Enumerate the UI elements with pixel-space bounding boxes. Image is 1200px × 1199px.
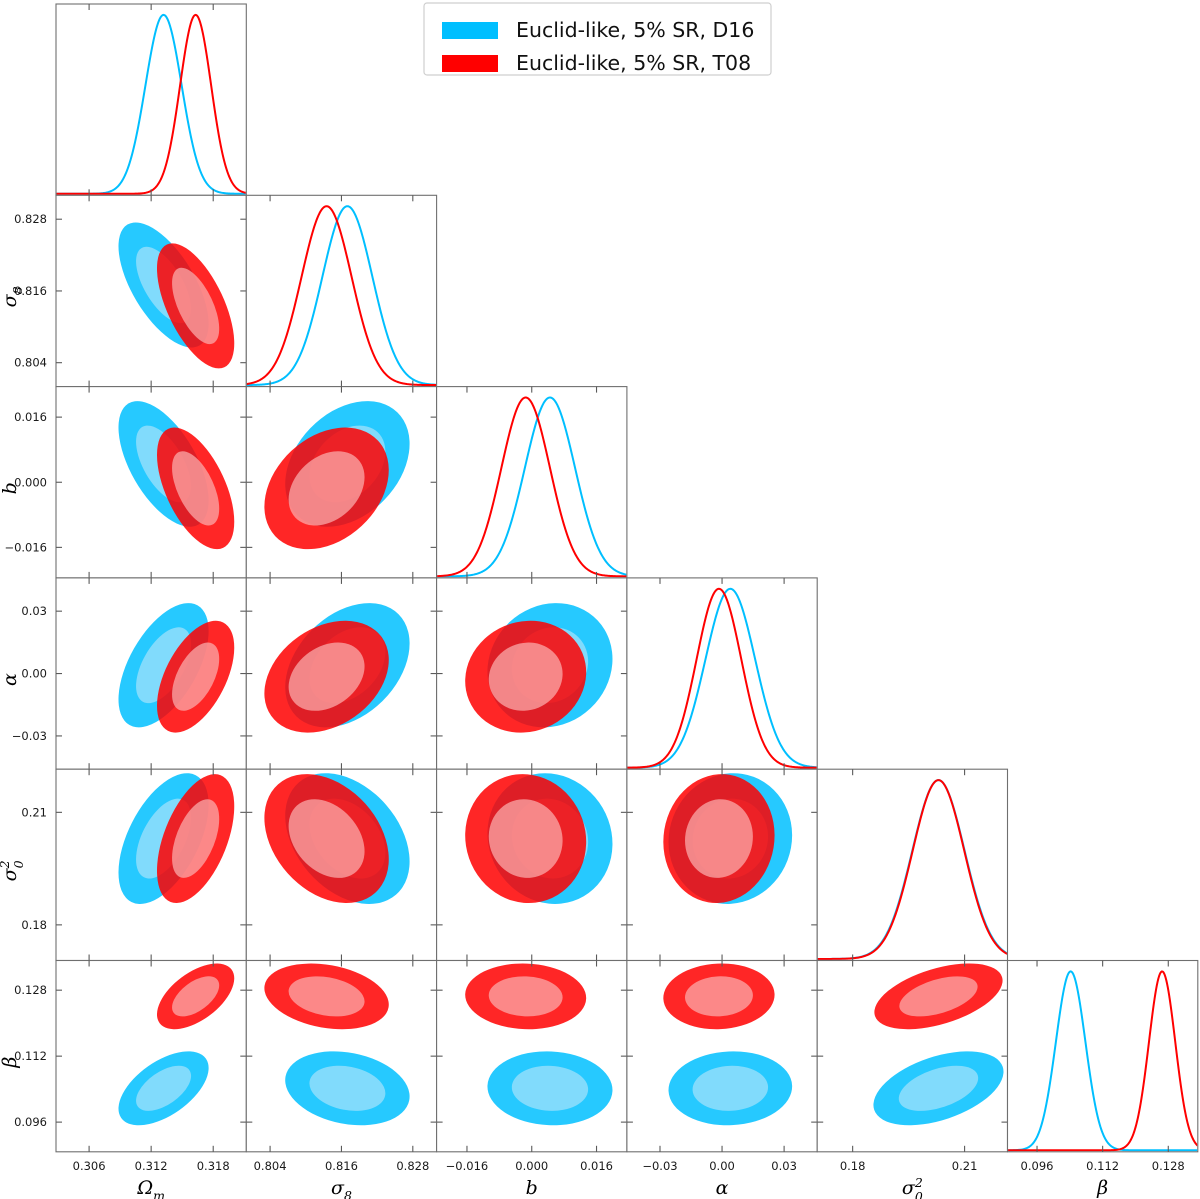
diagonal-panel-beta: 0.0960.1120.128 <box>1008 961 1198 1173</box>
corner-plot-figure: 0.8040.8160.828−0.0160.0000.016−0.030.00… <box>0 0 1200 1199</box>
x-tick-label: 0.016 <box>580 1159 613 1173</box>
x-tick-label: 0.03 <box>771 1159 797 1173</box>
x-tick-label: 0.000 <box>515 1159 548 1173</box>
x-axis-label-alpha: α <box>716 1177 729 1199</box>
contour-panel-b-vs-Om: −0.0160.0000.016 <box>4 387 250 578</box>
x-tick-label: 0.18 <box>840 1159 866 1173</box>
x-axis-label-Om-text: Ωm <box>136 1177 165 1199</box>
y-tick-label: 0.03 <box>21 604 47 618</box>
contour-panel-beta-vs-alpha: −0.030.000.03 <box>627 961 817 1173</box>
x-tick-label: 0.804 <box>254 1159 287 1173</box>
x-axis-label-sig0-text: σ20 <box>902 1175 923 1199</box>
y-axis-label-sig0: σ20 <box>0 860 26 881</box>
x-axis-label-alpha-text: α <box>716 1177 729 1199</box>
legend: Euclid-like, 5% SR, D16Euclid-like, 5% S… <box>424 3 771 75</box>
x-tick-label: 0.112 <box>1086 1159 1119 1173</box>
x-tick-label: 0.306 <box>73 1159 106 1173</box>
contour-panel-beta-vs-sig0: 0.180.21 <box>817 951 1013 1173</box>
x-axis-label-b: b <box>526 1177 538 1199</box>
x-tick-label: −0.03 <box>642 1159 677 1173</box>
y-axis-label-beta: β <box>0 1057 21 1069</box>
y-axis-label-alpha: α <box>0 673 21 686</box>
panel-frame <box>817 769 1007 960</box>
y-tick-label: 0.096 <box>14 1115 47 1129</box>
contour-panel-sig0-vs-alpha <box>627 755 817 960</box>
contour-panel-sig0-vs-b <box>437 750 637 960</box>
legend-swatch-t08 <box>442 55 498 72</box>
diagonal-panel-alpha <box>627 578 817 769</box>
x-axis-label-sig0: σ20 <box>902 1175 923 1199</box>
x-axis-label-b-text: b <box>526 1177 538 1199</box>
y-tick-label: −0.03 <box>12 729 47 743</box>
x-tick-label: 0.128 <box>1152 1159 1185 1173</box>
legend-label-0: Euclid-like, 5% SR, D16 <box>516 18 754 42</box>
x-tick-label: 0.312 <box>135 1159 168 1173</box>
y-tick-label: 0.016 <box>14 410 47 424</box>
y-axis-label-sig0-text: σ20 <box>0 860 26 881</box>
y-tick-label: 0.828 <box>14 212 47 226</box>
x-tick-label: 0.828 <box>396 1159 429 1173</box>
x-tick-label: 0.00 <box>709 1159 735 1173</box>
y-axis-label-b: b <box>0 482 21 494</box>
contour-panel-beta-vs-b: −0.0160.0000.016 <box>437 961 627 1173</box>
x-axis-label-s8: σ8 <box>331 1177 352 1199</box>
x-axis-label-beta-text: β <box>1096 1177 1108 1199</box>
x-axis-label-Om: Ωm <box>136 1177 165 1199</box>
y-tick-label: 0.128 <box>14 983 47 997</box>
y-tick-label: 0.00 <box>21 667 47 681</box>
y-tick-label: 0.21 <box>21 805 47 819</box>
legend-swatch-d16 <box>442 22 498 39</box>
figure-canvas: 0.8040.8160.828−0.0160.0000.016−0.030.00… <box>0 0 1200 1199</box>
x-tick-label: 0.096 <box>1021 1159 1054 1173</box>
y-tick-label: −0.016 <box>4 540 47 554</box>
x-tick-label: 0.21 <box>952 1159 978 1173</box>
contour-panel-alpha-vs-Om: −0.030.000.03 <box>12 578 251 769</box>
legend-label-1: Euclid-like, 5% SR, T08 <box>516 51 751 75</box>
contour-panel-beta-vs-s8: 0.8040.8160.828 <box>246 954 436 1172</box>
diagonal-panel-sig0 <box>817 769 1007 960</box>
diagonal-panel-Om <box>56 4 246 195</box>
y-tick-label: 0.804 <box>14 356 47 370</box>
panel-frame <box>246 195 436 386</box>
x-tick-label: 0.816 <box>325 1159 358 1173</box>
contour-panel-beta-vs-Om: 0.3060.3120.3180.0960.1120.128 <box>14 951 246 1173</box>
y-axis-label-b-text: b <box>0 482 21 494</box>
contour-panel-sig0-vs-Om: 0.180.21 <box>21 759 250 960</box>
panel-frame <box>627 578 817 769</box>
contour-panel-s8-vs-Om: 0.8040.8160.828 <box>14 195 250 386</box>
y-axis-label-alpha-text: α <box>0 673 21 686</box>
x-tick-label: 0.318 <box>197 1159 230 1173</box>
contour-panel-sig0-vs-s8 <box>239 749 436 961</box>
diagonal-panel-b <box>437 387 627 578</box>
x-axis-label-beta: β <box>1096 1177 1108 1199</box>
contour-panel-alpha-vs-s8 <box>243 578 437 769</box>
y-axis-label-beta-text: β <box>0 1057 21 1069</box>
diagonal-panel-s8 <box>246 195 436 386</box>
contour-panel-b-vs-s8 <box>240 376 436 577</box>
panel-frame <box>1008 961 1198 1152</box>
panel-grid: 0.8040.8160.828−0.0160.0000.016−0.030.00… <box>4 4 1197 1173</box>
y-tick-label: 0.18 <box>21 918 47 932</box>
panel-frame <box>56 4 246 195</box>
x-axis-label-s8-text: σ8 <box>331 1177 352 1199</box>
x-tick-label: −0.016 <box>446 1159 489 1173</box>
contour-panel-alpha-vs-b <box>437 577 638 769</box>
